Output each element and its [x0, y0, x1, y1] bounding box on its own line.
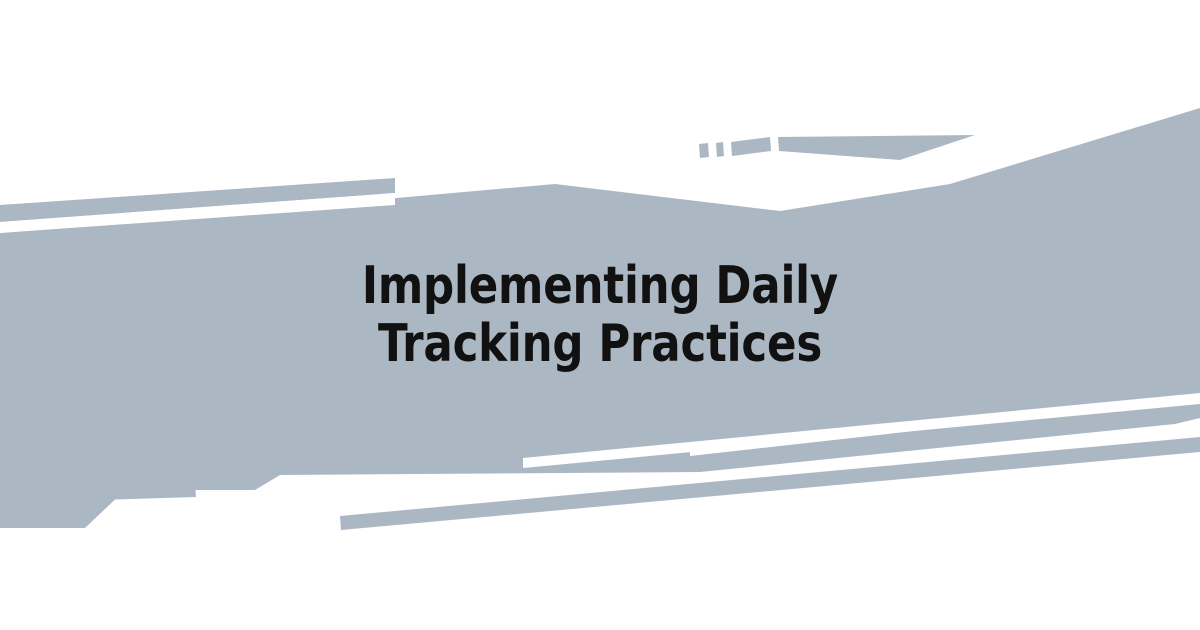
banner-decorative-artwork — [0, 0, 1200, 630]
dash-small-2 — [716, 142, 724, 157]
banner-card: Implementing Daily Tracking Practices — [0, 0, 1200, 630]
dash-small-1 — [699, 143, 709, 158]
